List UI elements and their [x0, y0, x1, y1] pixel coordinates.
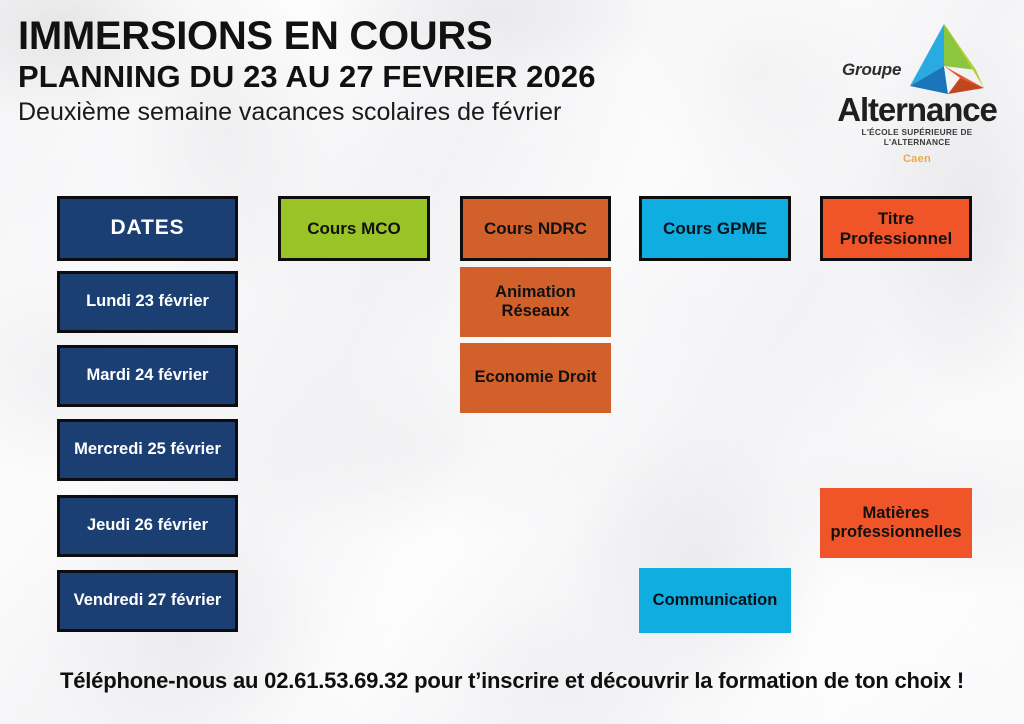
poster-canvas: IMMERSIONS EN COURS PLANNING DU 23 AU 27… — [0, 0, 1024, 724]
course-entry-animation-reseaux-line2: Réseaux — [502, 302, 570, 321]
course-entry-economie-droit: Economie Droit — [460, 343, 611, 413]
column-header-titre-line1: Titre — [878, 209, 915, 229]
header: IMMERSIONS EN COURS PLANNING DU 23 AU 27… — [18, 16, 818, 127]
date-row-lundi: Lundi 23 février — [57, 271, 238, 333]
course-entry-communication-line1: Communication — [653, 591, 778, 610]
date-row-vendredi-label: Vendredi 27 février — [74, 591, 222, 610]
column-header-ndrc: Cours NDRC — [460, 196, 611, 261]
course-entry-matieres-professionnelles: Matières professionnelles — [820, 488, 972, 558]
course-entry-matieres-line1: Matières — [863, 504, 930, 523]
column-header-gpme-label: Cours GPME — [663, 219, 767, 239]
column-header-gpme: Cours GPME — [639, 196, 791, 261]
column-header-dates-label: DATES — [110, 216, 184, 240]
column-header-mco: Cours MCO — [278, 196, 430, 261]
course-entry-economie-droit-line1: Economie Droit — [475, 368, 597, 387]
footer: Téléphone-nous au 02.61.53.69.32 pour t’… — [0, 668, 1024, 694]
date-row-lundi-label: Lundi 23 février — [86, 292, 209, 311]
column-header-titre-professionnel: Titre Professionnel — [820, 196, 972, 261]
page-note: Deuxième semaine vacances scolaires de f… — [18, 99, 818, 127]
logo-groupe-label: Groupe — [842, 60, 901, 80]
column-header-titre-line2: Professionnel — [840, 229, 952, 249]
column-header-dates: DATES — [57, 196, 238, 261]
date-row-mardi: Mardi 24 février — [57, 345, 238, 407]
course-entry-communication: Communication — [639, 568, 791, 633]
date-row-jeudi-label: Jeudi 26 février — [87, 516, 208, 535]
logo-city: Caen — [828, 153, 1006, 165]
date-row-mardi-label: Mardi 24 février — [87, 366, 209, 385]
date-row-jeudi: Jeudi 26 février — [57, 495, 238, 557]
column-header-mco-label: Cours MCO — [307, 219, 401, 239]
page-subtitle: PLANNING DU 23 AU 27 FEVRIER 2026 — [18, 61, 818, 94]
logo-mark-row: Groupe — [828, 22, 1006, 98]
page-title: IMMERSIONS EN COURS — [18, 16, 818, 58]
date-row-mercredi-label: Mercredi 25 février — [74, 440, 221, 459]
date-row-vendredi: Vendredi 27 février — [57, 570, 238, 632]
brand-logo: Groupe Alternance L'ÉCO — [828, 22, 1006, 162]
triangle-logo-icon — [898, 22, 990, 103]
logo-tagline: L'ÉCOLE SUPÉRIEURE DE L'ALTERNANCE — [828, 127, 1006, 147]
course-entry-animation-reseaux-line1: Animation — [495, 283, 576, 302]
date-row-mercredi: Mercredi 25 février — [57, 419, 238, 481]
footer-contact-text: Téléphone-nous au 02.61.53.69.32 pour t’… — [60, 668, 964, 693]
column-header-ndrc-label: Cours NDRC — [484, 219, 587, 239]
course-entry-animation-reseaux: Animation Réseaux — [460, 267, 611, 337]
course-entry-matieres-line2: professionnelles — [830, 523, 961, 542]
